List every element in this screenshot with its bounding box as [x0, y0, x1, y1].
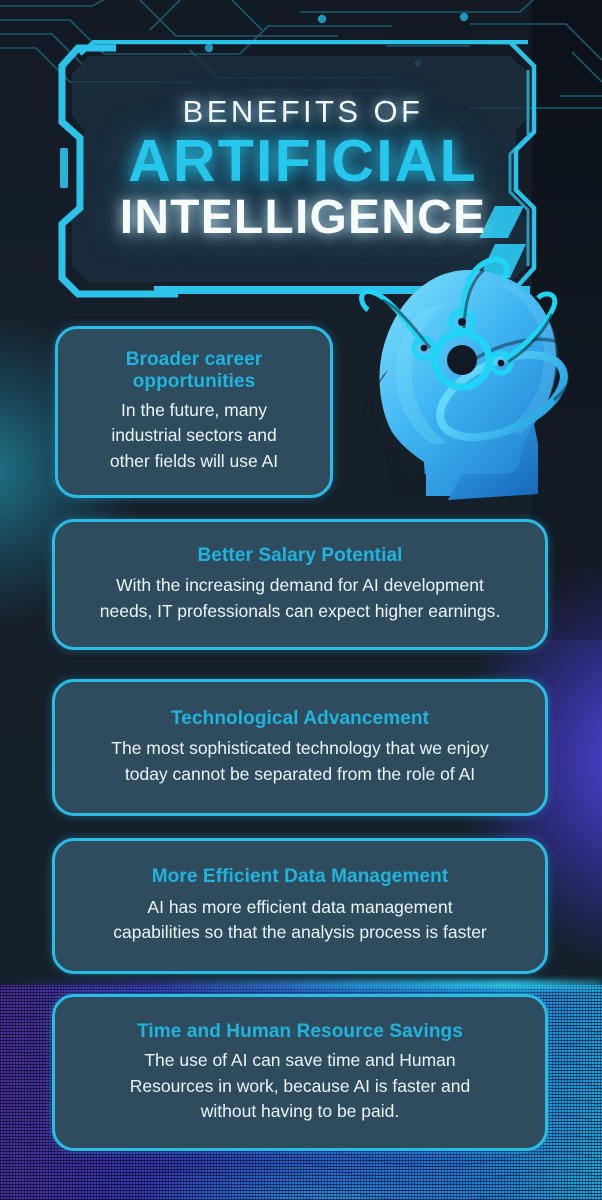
card-title: Better Salary Potential: [197, 545, 402, 567]
benefit-card-time-and-human-resource-savings[interactable]: Time and Human Resource Savings The use …: [52, 994, 548, 1151]
benefit-card-more-efficient-data-management[interactable]: More Efficient Data Management AI has mo…: [52, 838, 548, 974]
benefit-card-better-salary-potential[interactable]: Better Salary Potential With the increas…: [52, 519, 548, 650]
card-body-line: In the future, many: [110, 398, 278, 424]
card-title-line: More Efficient Data Management: [152, 866, 449, 888]
card-title: Broader career opportunities: [126, 349, 263, 394]
card-body-line: industrial sectors and: [110, 423, 278, 449]
card-body-line: other fields will use AI: [110, 449, 278, 475]
infographic-canvas: BENEFITS OF ARTIFICIAL INTELLIGENCE: [0, 0, 602, 1200]
card-title-line: Technological Advancement: [171, 708, 429, 730]
title-line-benefits: BENEFITS OF: [183, 95, 424, 129]
card-title: More Efficient Data Management: [152, 866, 449, 888]
card-body-line: today cannot be separated from the role …: [111, 762, 488, 787]
benefit-card-technological-advancement[interactable]: Technological Advancement The most sophi…: [52, 679, 548, 816]
card-title-line: opportunities: [126, 371, 263, 393]
card-body-line: without having to be paid.: [130, 1099, 470, 1124]
card-title: Time and Human Resource Savings: [137, 1021, 463, 1043]
card-title-line: Better Salary Potential: [197, 545, 402, 567]
card-body: The most sophisticated technology that w…: [111, 736, 488, 787]
card-body: With the increasing demand for AI develo…: [100, 573, 500, 624]
benefit-card-broader-career-opportunities[interactable]: Broader career opportunities In the futu…: [55, 326, 333, 498]
card-body-line: The use of AI can save time and Human: [130, 1048, 470, 1073]
card-title-line: Time and Human Resource Savings: [137, 1021, 463, 1043]
card-body-line: Resources in work, because AI is faster …: [130, 1074, 470, 1099]
card-body: The use of AI can save time and Human Re…: [130, 1048, 470, 1124]
card-body: AI has more efficient data management ca…: [113, 895, 487, 946]
card-body-line: AI has more efficient data management: [113, 895, 487, 920]
card-title: Technological Advancement: [171, 708, 429, 730]
card-body-line: needs, IT professionals can expect highe…: [100, 599, 500, 624]
card-body: In the future, many industrial sectors a…: [110, 398, 278, 476]
card-body-line: With the increasing demand for AI develo…: [100, 573, 500, 598]
title-line-artificial: ARTIFICIAL: [128, 131, 478, 191]
card-body-line: capabilities so that the analysis proces…: [113, 920, 487, 945]
card-title-line: Broader career: [126, 349, 263, 371]
card-body-line: The most sophisticated technology that w…: [111, 736, 488, 761]
wave-glow-edge: [0, 980, 602, 990]
ai-head-icon: [352, 248, 597, 503]
title-line-intelligence: INTELLIGENCE: [120, 194, 486, 243]
